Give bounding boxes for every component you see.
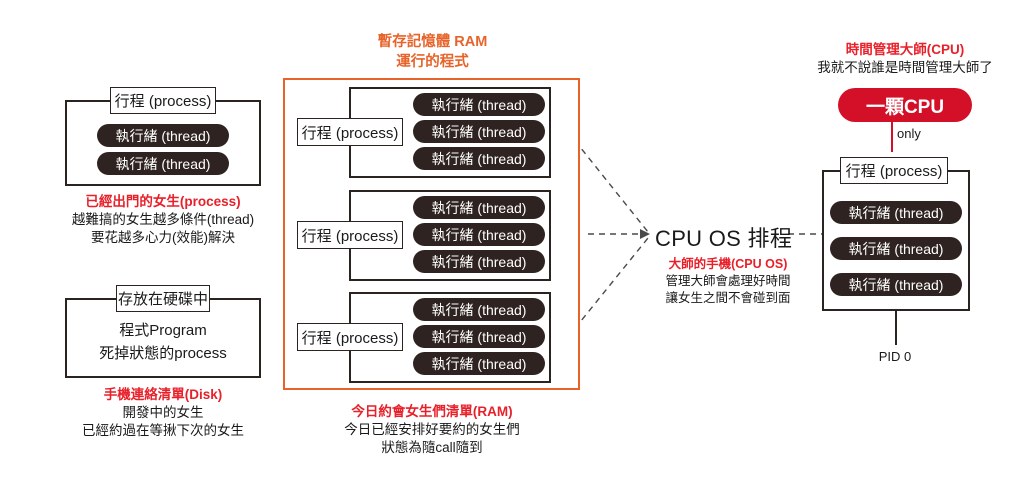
left-process-header: 行程 (process) — [110, 87, 216, 114]
arrowhead-to-scheduler — [640, 229, 650, 239]
ram-process-1-thread-2: 執行緒 (thread) — [413, 120, 545, 143]
arrowhead-group — [640, 229, 650, 239]
left-process-caption-line-1: 越難搞的女生越多條件(thread) — [28, 211, 298, 229]
ram-title-line-1: 暫存記憶體 RAM — [300, 33, 565, 53]
dashed-line-process3-to-scheduler — [568, 238, 648, 337]
disk-caption: 手機連絡清單(Disk) 開發中的女生 已經約過在等揪下次的女生 — [28, 386, 298, 441]
ram-process-1-thread-3: 執行緒 (thread) — [413, 147, 545, 170]
ram-process-3-thread-3: 執行緒 (thread) — [413, 352, 545, 375]
cpu-caption-line-1: 我就不說誰是時間管理大師了 — [790, 59, 1020, 77]
dashed-line-process1-to-scheduler — [568, 132, 648, 232]
disk-body: 程式Program 死掉狀態的process — [65, 320, 261, 365]
left-process-thread-1: 執行緒 (thread) — [97, 124, 229, 147]
ram-process-label-1: 行程 (process) — [297, 118, 403, 146]
scheduler-caption-line-1: 管理大師會處理好時間 — [638, 273, 818, 290]
ram-process-3-thread-1: 執行緒 (thread) — [413, 298, 545, 321]
ram-title-line-2: 運行的程式 — [300, 53, 565, 73]
cpu-only-label: only — [897, 126, 921, 141]
left-process-caption-highlight: 已經出門的女生(process) — [28, 193, 298, 211]
cpu-process-thread-2: 執行緒 (thread) — [830, 237, 962, 260]
ram-process-2-thread-2: 執行緒 (thread) — [413, 223, 545, 246]
ram-process-label-3: 行程 (process) — [297, 323, 403, 351]
left-process-caption-line-2: 要花越多心力(效能)解決 — [28, 229, 298, 247]
left-process-caption: 已經出門的女生(process) 越難搞的女生越多條件(thread) 要花越多… — [28, 193, 298, 248]
ram-caption-line-1: 今日已經安排好要約的女生們 — [297, 421, 567, 439]
scheduler-caption-line-2: 讓女生之間不會碰到面 — [638, 290, 818, 307]
ram-process-label-2: 行程 (process) — [297, 221, 403, 249]
ram-process-2-thread-3: 執行緒 (thread) — [413, 250, 545, 273]
ram-caption: 今日約會女生們清單(RAM) 今日已經安排好要約的女生們 狀態為隨call隨到 — [297, 403, 567, 458]
cpu-caption: 時間管理大師(CPU) 我就不說誰是時間管理大師了 — [790, 41, 1020, 77]
ram-process-2-thread-1: 執行緒 (thread) — [413, 196, 545, 219]
diagram-canvas: 行程 (process) 執行緒 (thread) 執行緒 (thread) 已… — [0, 0, 1024, 485]
cpu-process-thread-1: 執行緒 (thread) — [830, 201, 962, 224]
disk-caption-highlight: 手機連絡清單(Disk) — [28, 386, 298, 404]
cpu-process-thread-3: 執行緒 (thread) — [830, 273, 962, 296]
cpu-only-connector — [891, 122, 893, 152]
cpu-process-header: 行程 (process) — [840, 157, 948, 184]
ram-process-1-thread-1: 執行緒 (thread) — [413, 93, 545, 116]
scheduler-caption-highlight: 大師的手機(CPU OS) — [638, 256, 818, 273]
scheduler-caption: 大師的手機(CPU OS) 管理大師會處理好時間 讓女生之間不會碰到面 — [638, 256, 818, 307]
disk-body-line-1: 程式Program — [65, 320, 261, 343]
ram-caption-highlight: 今日約會女生們清單(RAM) — [297, 403, 567, 421]
scheduler-title: CPU OS 排程 — [655, 221, 792, 253]
disk-body-line-2: 死掉狀態的process — [65, 343, 261, 366]
disk-caption-line-1: 開發中的女生 — [28, 404, 298, 422]
ram-title: 暫存記憶體 RAM 運行的程式 — [300, 33, 565, 72]
cpu-pill: 一顆CPU — [838, 88, 972, 122]
disk-caption-line-2: 已經約過在等揪下次的女生 — [28, 422, 298, 440]
left-process-thread-2: 執行緒 (thread) — [97, 152, 229, 175]
pid-connector — [895, 311, 897, 345]
ram-process-3-thread-2: 執行緒 (thread) — [413, 325, 545, 348]
ram-caption-line-2: 狀態為隨call隨到 — [297, 439, 567, 457]
pid-label: PID 0 — [868, 349, 922, 364]
cpu-caption-highlight: 時間管理大師(CPU) — [790, 41, 1020, 59]
disk-header: 存放在硬碟中 — [116, 285, 210, 312]
